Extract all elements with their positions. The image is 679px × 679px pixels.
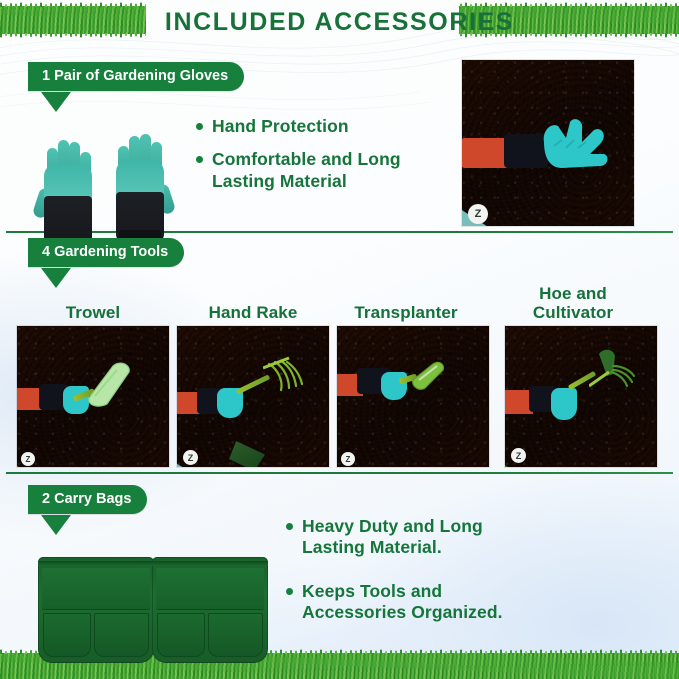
photo-hand-rake: Z	[177, 326, 329, 467]
list-item: Comfortable and Long Lasting Material	[196, 149, 446, 192]
photo-hoe-and-cultivator: Z	[505, 326, 657, 467]
bullet-text: Keeps Tools and Accessories Organized.	[302, 581, 503, 624]
cultivator-tines	[611, 366, 634, 386]
list-item: Hand Protection	[196, 116, 446, 137]
glove-right	[108, 126, 174, 246]
brand-badge: Z	[468, 204, 488, 224]
photo-trowel: Z	[17, 326, 169, 467]
tag-pointer-icon	[41, 268, 71, 288]
section-divider-2	[6, 472, 673, 474]
section-tag-bags: 2 Carry Bags	[28, 485, 147, 535]
bullet-dot-icon	[196, 156, 203, 163]
page-title: INCLUDED ACCESSORIES	[0, 8, 679, 37]
bullet-text: Hand Protection	[212, 116, 349, 137]
tag-pointer-icon	[41, 92, 71, 112]
tool-label-hand-rake: Hand Rake	[177, 303, 329, 322]
photo-transplanter: Z	[337, 326, 489, 467]
trowel-blade	[89, 363, 129, 406]
transplanter-blade	[413, 362, 444, 389]
carry-bag-1	[38, 557, 154, 663]
tag-label-gloves: 1 Pair of Gardening Gloves	[28, 62, 244, 91]
bullet-list-gloves: Hand Protection Comfortable and Long Las…	[196, 116, 446, 204]
bullet-text: Heavy Duty and Long Lasting Material.	[302, 516, 483, 559]
tag-pointer-icon	[41, 515, 71, 535]
glove-left	[36, 134, 102, 254]
bullet-text: Comfortable and Long Lasting Material	[212, 149, 401, 192]
tool-label-hoe-and-cultivator: Hoe and Cultivator	[497, 284, 649, 322]
infographic-page: INCLUDED ACCESSORIES 1 Pair of Gardening…	[0, 0, 679, 679]
tag-label-bags: 2 Carry Bags	[28, 485, 147, 514]
carry-bag-2	[152, 557, 268, 663]
photo-glove-on-soil: Z	[462, 60, 634, 226]
bullet-list-bags: Heavy Duty and Long Lasting Material. Ke…	[286, 516, 586, 635]
bullet-dot-icon	[286, 523, 293, 530]
tool-label-trowel: Trowel	[17, 303, 169, 322]
bullet-dot-icon	[196, 123, 203, 130]
tool-label-transplanter: Transplanter	[330, 303, 482, 322]
tag-label-tools: 4 Gardening Tools	[28, 238, 184, 267]
bullet-dot-icon	[286, 588, 293, 595]
glove-hand-shape	[544, 119, 608, 168]
list-item: Heavy Duty and Long Lasting Material.	[286, 516, 586, 559]
section-tag-tools: 4 Gardening Tools	[28, 238, 184, 288]
section-tag-gloves: 1 Pair of Gardening Gloves	[28, 62, 244, 112]
list-item: Keeps Tools and Accessories Organized.	[286, 581, 586, 624]
section-divider-1	[6, 231, 673, 233]
